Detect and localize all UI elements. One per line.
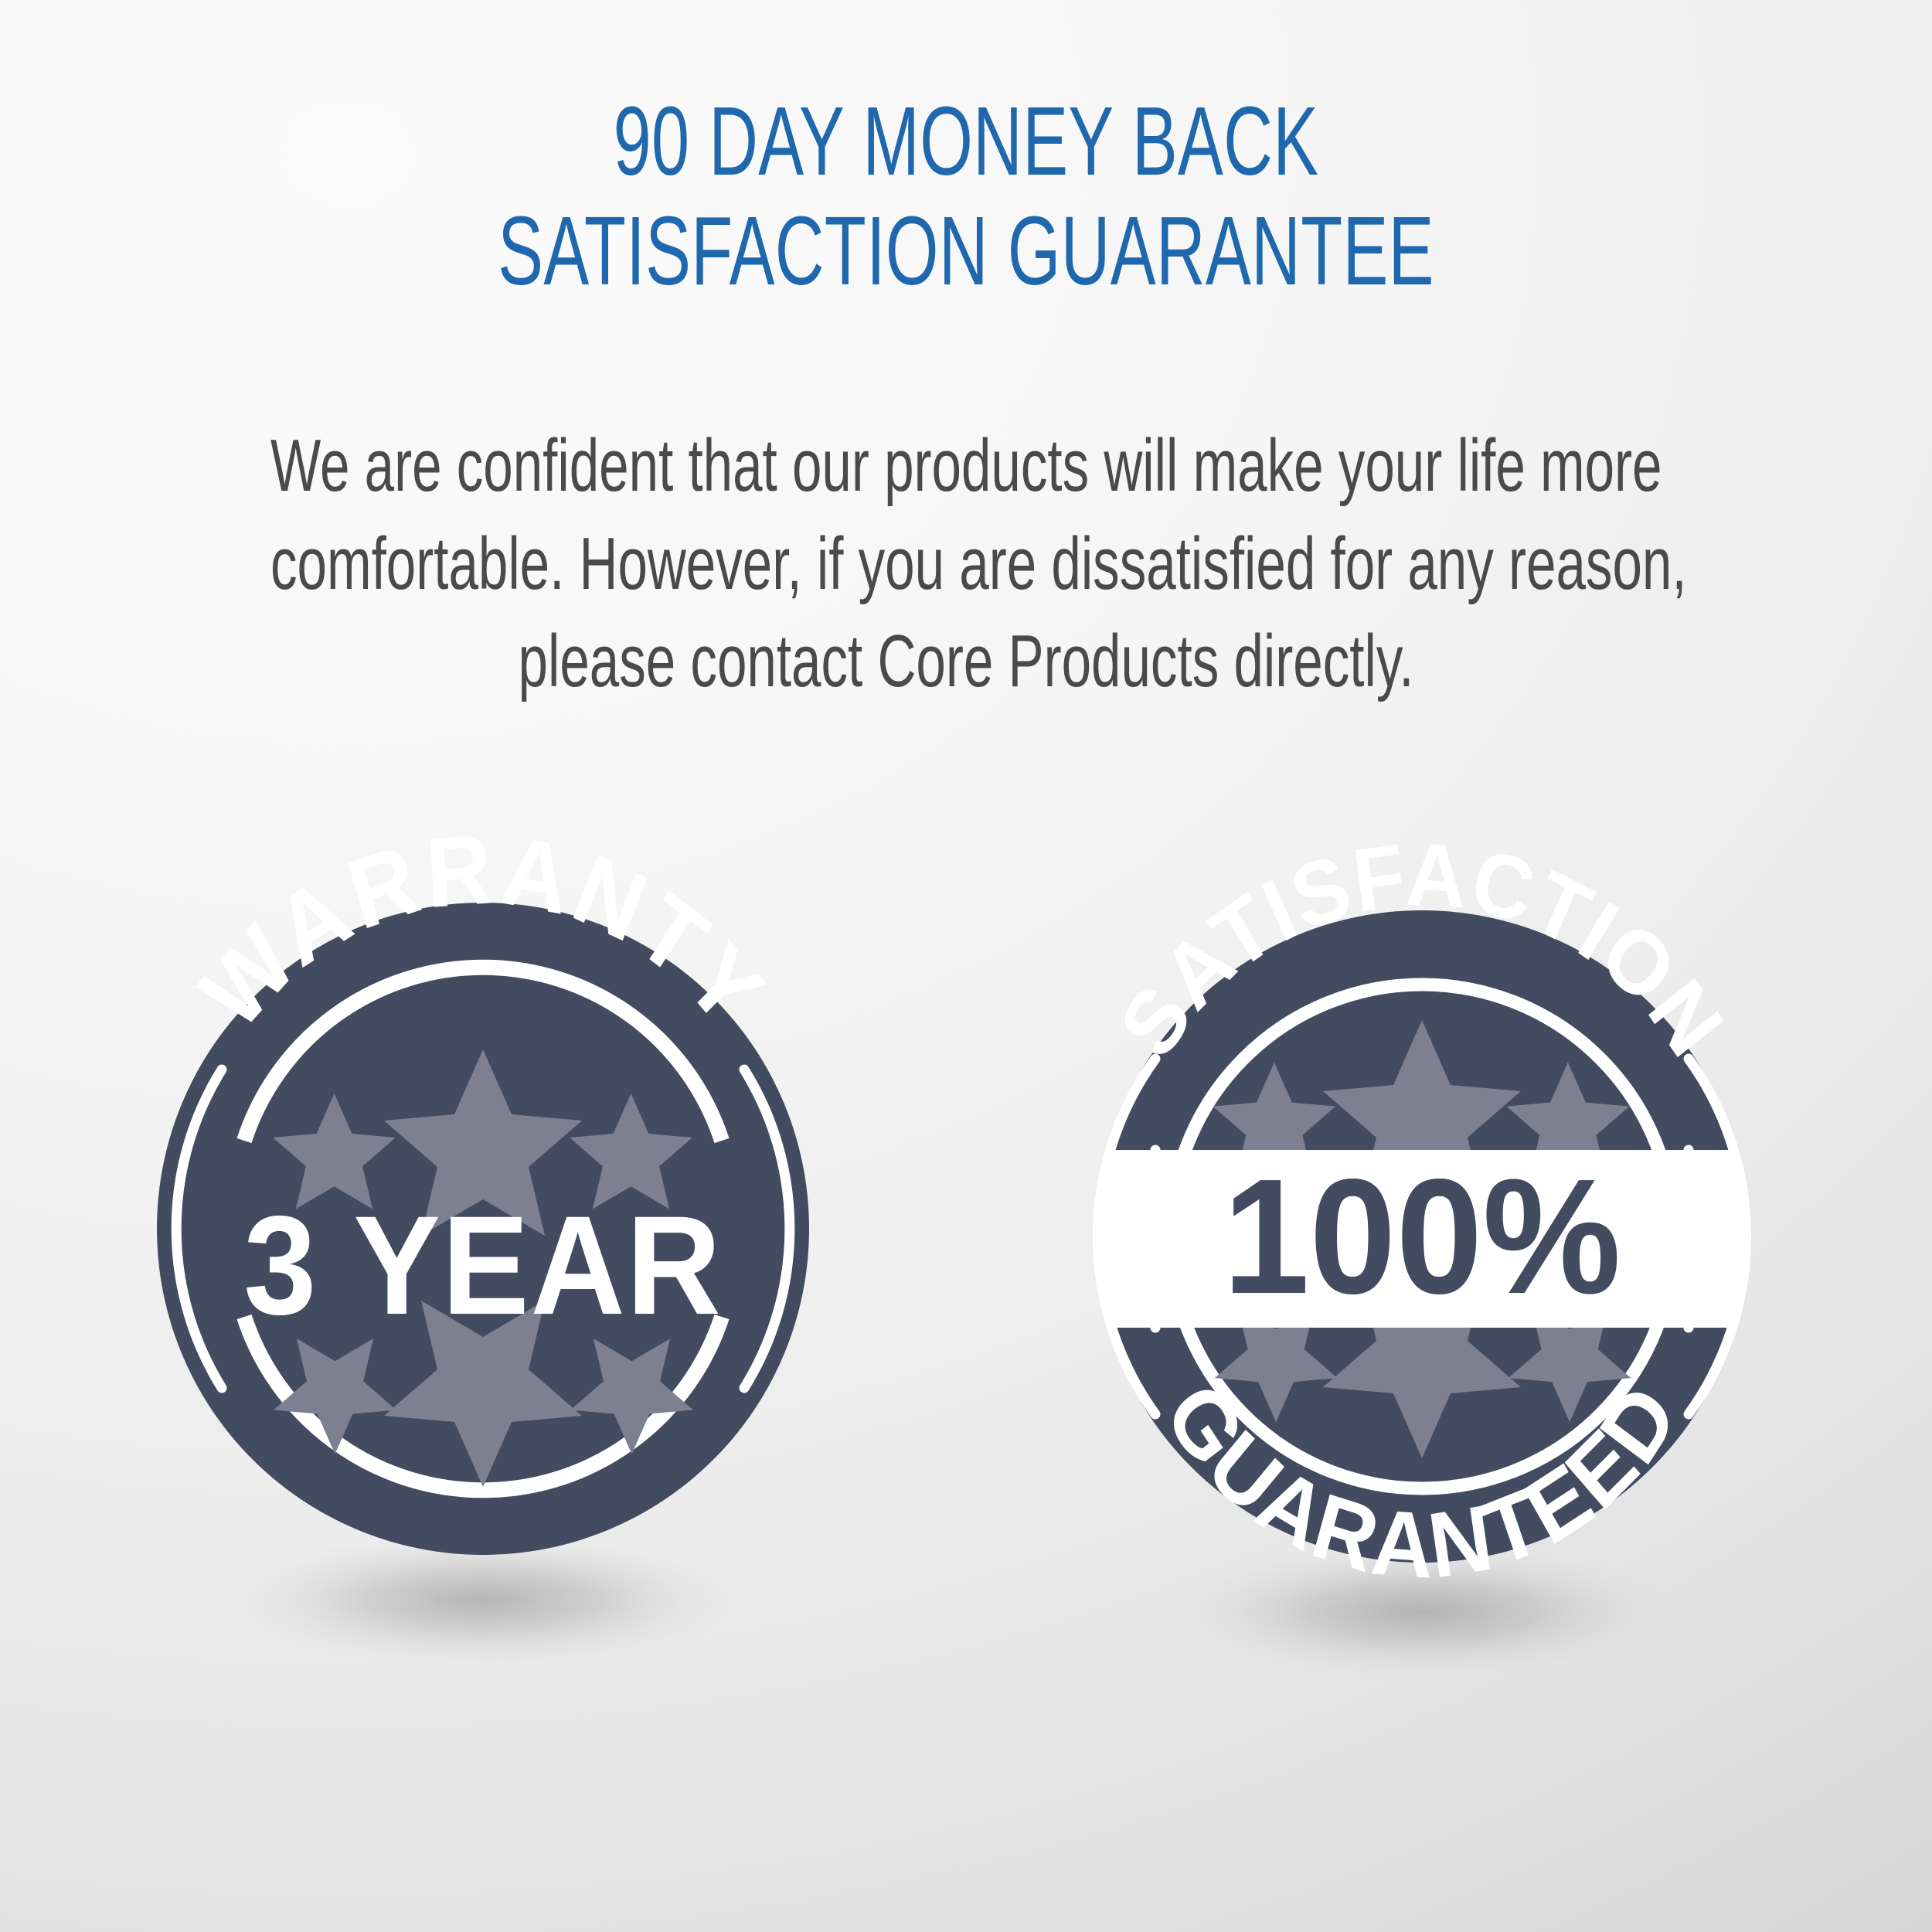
page-title: 90 DAY MONEY BACK SATISFACTION GUARANTEE <box>290 87 1642 307</box>
body-copy-line-1: We are confident that our products will … <box>270 417 1662 515</box>
warranty-center-label: 3 YEAR <box>243 1187 722 1344</box>
warranty-badge: WARRANTY 3 YEAR <box>73 819 893 1685</box>
page-title-line-1: 90 DAY MONEY BACK <box>290 87 1642 196</box>
page-title-line-2: SATISFACTION GUARANTEE <box>290 196 1642 306</box>
body-copy: We are confident that our products will … <box>270 417 1662 711</box>
promo-canvas: 90 DAY MONEY BACK SATISFACTION GUARANTEE… <box>0 0 1932 1932</box>
body-copy-line-3: please contact Core Products directly. <box>270 613 1662 711</box>
satisfaction-percent-label: 100% <box>1223 1145 1621 1328</box>
body-copy-line-2: comfortable. However, if you are dissati… <box>270 515 1662 614</box>
satisfaction-badge: SATISFACTION GUARANTEED <box>1012 827 1832 1692</box>
badge-row: WARRANTY 3 YEAR <box>0 804 1932 1731</box>
